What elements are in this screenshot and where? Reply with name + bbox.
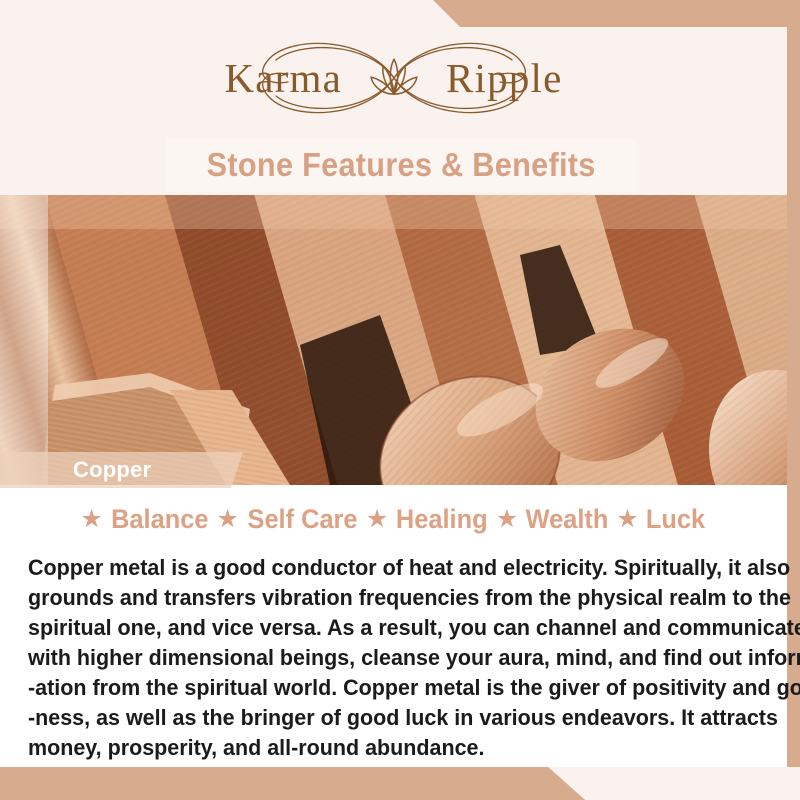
hero-image: [0, 195, 787, 485]
feature-item: ★ Healing: [361, 506, 491, 533]
feature-label: Healing: [396, 506, 488, 533]
brand-name-right: Ripple: [446, 58, 563, 99]
section-heading-text: Stone Features & Benefits: [206, 146, 595, 184]
star-icon: ★: [216, 507, 238, 532]
copper-rods-illustration: [0, 195, 787, 485]
description-line: -ness, as well as the bringer of good lu…: [28, 703, 735, 733]
feature-item: ★ Wealth: [491, 506, 611, 533]
stone-name-badge: Copper: [0, 452, 243, 488]
stone-name-label: Copper: [73, 459, 151, 481]
feature-item: ★ Balance: [80, 506, 211, 533]
star-icon: ★: [80, 507, 102, 532]
star-icon: ★: [366, 507, 388, 532]
bottom-cream-corner: [548, 767, 800, 800]
brand-name-left: Karma: [224, 58, 342, 99]
star-icon: ★: [496, 507, 518, 532]
feature-list: ★ Balance ★ Self Care ★ Healing ★ Wealth…: [0, 506, 787, 533]
feature-label: Luck: [646, 506, 705, 533]
description-line: grounds and transfers vibration frequenc…: [28, 583, 735, 613]
feature-item: ★ Luck: [611, 506, 706, 533]
feature-item: ★ Self Care: [211, 506, 360, 533]
description-line: with higher dimensional beings, cleanse …: [28, 643, 735, 673]
feature-label: Wealth: [526, 506, 609, 533]
feature-label: Balance: [111, 506, 208, 533]
infographic-card: Karma Ripple Stone Features & Benefits: [0, 0, 800, 800]
lotus-icon: [367, 55, 421, 99]
feature-label: Self Care: [247, 506, 357, 533]
bottom-accent-band: [0, 767, 585, 800]
description-line: -ation from the spiritual world. Copper …: [28, 673, 735, 703]
brand-logo: Karma Ripple: [0, 26, 787, 130]
description-line: money, prosperity, and all-round abundan…: [28, 733, 735, 763]
description-line: Copper metal is a good conductor of heat…: [28, 553, 735, 583]
description-text: Copper metal is a good conductor of heat…: [28, 553, 768, 763]
section-heading: Stone Features & Benefits: [166, 138, 636, 192]
star-icon: ★: [616, 507, 638, 532]
description-line: spiritual one, and vice versa. As a resu…: [28, 613, 735, 643]
